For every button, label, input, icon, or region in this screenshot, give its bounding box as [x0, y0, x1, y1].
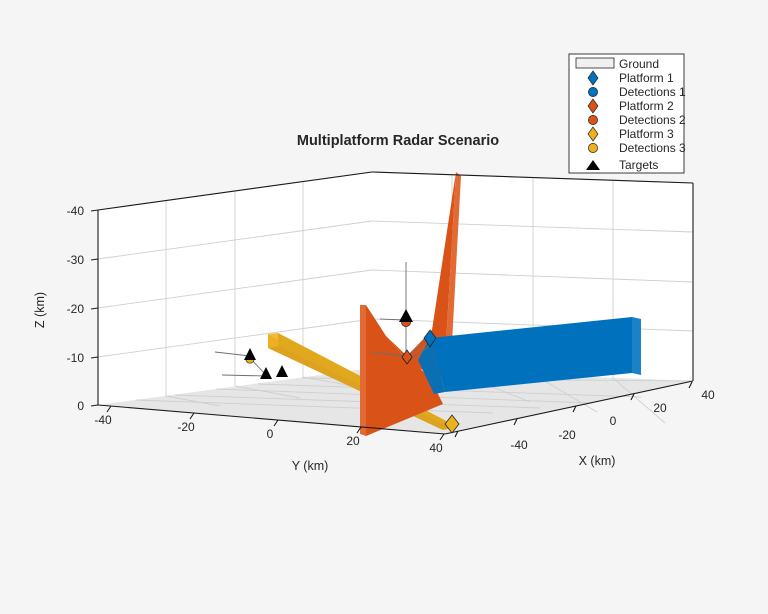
x-tick-label: 20: [653, 401, 667, 415]
legend-label-platform-2[interactable]: Platform 2: [619, 99, 674, 113]
legend-label-targets[interactable]: Targets: [619, 158, 658, 172]
legend-swatch-detections-3[interactable]: [588, 143, 597, 152]
y-tick-label: 0: [267, 427, 274, 441]
figure-canvas: -40 -30 -20 -10 0 -40 -20 0 20 40 -40 -2…: [0, 0, 768, 614]
legend-swatch-detections-2[interactable]: [588, 115, 597, 124]
x-tick-label: 0: [610, 414, 617, 428]
y-tick-label: -20: [177, 420, 195, 434]
legend-label-ground[interactable]: Ground: [619, 57, 659, 71]
z-tick-label: 0: [77, 399, 84, 413]
y-tick-label: 20: [346, 434, 360, 448]
y-axis-label: Y (km): [292, 459, 329, 473]
page-title: Multiplatform Radar Scenario: [297, 133, 499, 149]
beam-platform-2-left-edge: [360, 305, 366, 436]
legend-label-detections-1[interactable]: Detections 1: [619, 85, 686, 99]
y-tick-label: -40: [94, 413, 112, 427]
x-tick-label: 40: [701, 388, 715, 402]
x-tick-label: -20: [558, 428, 576, 442]
z-axis-label: Z (km): [33, 292, 47, 328]
z-tick-label: -40: [67, 204, 85, 218]
legend-swatch-detections-1[interactable]: [588, 87, 597, 96]
legend-swatch-ground[interactable]: [576, 58, 614, 68]
legend-label-detections-3[interactable]: Detections 3: [619, 141, 686, 155]
x-tick-label: -40: [510, 438, 528, 452]
x-axis-label: X (km): [579, 454, 616, 468]
legend-label-platform-1[interactable]: Platform 1: [619, 71, 674, 85]
y-tick-label: 40: [429, 441, 443, 455]
legend: Ground Platform 1 Detections 1 Platform …: [569, 54, 686, 173]
z-tick-label: -20: [67, 302, 85, 316]
legend-label-detections-2[interactable]: Detections 2: [619, 113, 686, 127]
radar-scenario-plot: -40 -30 -20 -10 0 -40 -20 0 20 40 -40 -2…: [0, 0, 768, 614]
beam-platform-1-far-edge: [632, 317, 641, 375]
legend-label-platform-3[interactable]: Platform 3: [619, 127, 674, 141]
z-tick-label: -10: [67, 351, 85, 365]
z-tick-label: -30: [67, 253, 85, 267]
